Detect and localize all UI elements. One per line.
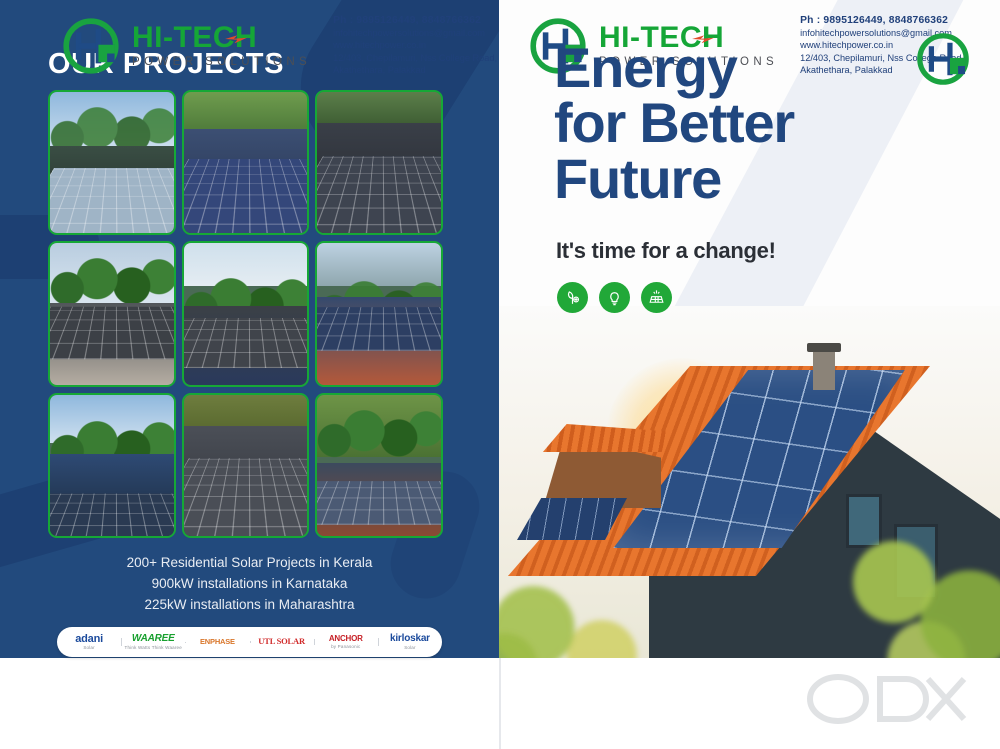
brand-name: WAAREE: [132, 634, 175, 644]
phone-line[interactable]: Ph : 9895126449, 8848766362: [800, 15, 964, 27]
hero-headline: Energy for Better Future: [554, 40, 794, 206]
brand-logo-kirloskar: kirloskar Solar: [378, 634, 442, 650]
brand-logo-waaree: WAAREE Think Watts Think Waaree: [121, 634, 185, 650]
brand-logo-utl-solar: UTL SOLAR: [250, 637, 314, 647]
footer-contact-left: Ph : 9895126449, 8848766362 infohitechpo…: [333, 15, 497, 76]
projects-panel: OUR PROJECTS: [0, 0, 499, 658]
project-photo: [48, 241, 176, 386]
footer-brand-left: HI-TECH POWER SOLUTIONS Ph : 9895126449,…: [60, 0, 497, 91]
eco-tree-icon: [557, 282, 588, 313]
solar-panel-icon: [641, 282, 672, 313]
projects-photo-grid: [48, 90, 443, 538]
email-line[interactable]: infohitechpowersolutions@gmail.com: [333, 27, 497, 39]
phone-line[interactable]: Ph : 9895126449, 8848766362: [333, 15, 497, 27]
project-photo: [315, 241, 443, 386]
hero-subline: It's time for a change!: [556, 238, 776, 264]
brand-name-primary: HI-TECH: [132, 23, 311, 53]
footer-divider: [499, 658, 501, 749]
project-photo: [315, 90, 443, 235]
stat-line: 900kW installations in Karnataka: [0, 573, 499, 594]
project-photo: [182, 241, 310, 386]
project-photo: [48, 90, 176, 235]
eco-icon-row: [557, 282, 672, 313]
project-photo: [48, 393, 176, 538]
brand-name: ENPHASE: [200, 638, 235, 646]
project-stats: 200+ Residential Solar Projects in Keral…: [0, 552, 499, 615]
project-photo: [182, 393, 310, 538]
brand-logo-anchor: ANCHOR by Panasonic: [314, 635, 378, 649]
brand-sub: by Panasonic: [331, 645, 360, 650]
hero-house-photo: [499, 306, 1000, 658]
brand-sub: Solar: [404, 646, 416, 651]
partner-brands-bar: adani Solar WAAREE Think Watts Think Waa…: [57, 627, 442, 657]
stat-line: 200+ Residential Solar Projects in Keral…: [0, 552, 499, 573]
headline-line-3: Future: [554, 151, 794, 206]
brand-logo-adani: adani Solar: [57, 634, 121, 651]
project-photo: [182, 90, 310, 235]
website-line[interactable]: www.hitechpower.co.in: [333, 39, 497, 51]
hero-panel: Energy for Better Future It's time for a…: [499, 0, 1000, 658]
brand-sub: Think Watts Think Waaree: [125, 646, 182, 651]
headline-line-2: for Better: [554, 95, 794, 150]
brand-name: UTL SOLAR: [258, 637, 305, 646]
project-photo: [315, 393, 443, 538]
hitech-logo-icon: [914, 30, 972, 88]
headline-line-1: Energy: [554, 40, 794, 95]
address-line-1: 12/403, Chepilamuri, Nss College Road,: [333, 52, 497, 64]
address-line-2: Akathethara, Palakkad: [333, 64, 497, 76]
brand-name-secondary: POWER SOLUTIONS: [132, 57, 311, 69]
stat-line: 225kW installations in Maharashtra: [0, 594, 499, 615]
hitech-logo-icon: [60, 15, 122, 77]
poster-canvas: OUR PROJECTS: [0, 0, 1000, 749]
brand-name: adani: [75, 634, 103, 645]
brand-sub: Solar: [83, 646, 95, 651]
lightbulb-icon: [599, 282, 630, 313]
brand-name: kirloskar: [390, 634, 430, 644]
brand-logo-enphase: ENPHASE: [185, 638, 249, 647]
brand-name: ANCHOR: [329, 635, 363, 643]
footer-wordmark: HI-TECH POWER SOLUTIONS: [132, 23, 311, 69]
